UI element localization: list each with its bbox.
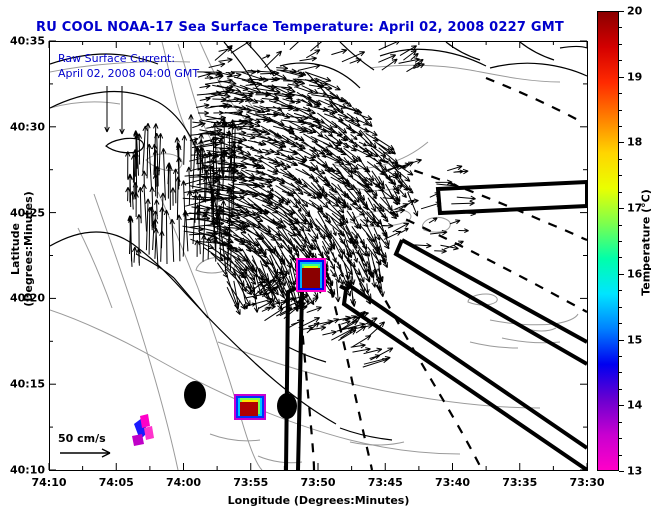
current-vector [195, 240, 200, 257]
current-vector [290, 42, 306, 50]
x-axis-title: Longitude (Degrees:Minutes) [49, 494, 588, 507]
x-tick-73-35: 73:35 [502, 476, 537, 489]
current-vector [395, 163, 413, 175]
colorbar-minor-tick [619, 44, 622, 45]
current-vector [351, 344, 366, 348]
buoy-west [184, 381, 206, 409]
current-vector [231, 42, 252, 53]
colorbar-tickmark-16 [619, 274, 624, 275]
current-vector [338, 114, 348, 118]
current-vector [120, 86, 125, 134]
scale-bar-label: 50 cm/s [58, 432, 118, 445]
scale-bar-legend: 50 cm/s [58, 432, 118, 464]
map-plot-area [49, 41, 588, 471]
dashed-boundaries [296, 78, 587, 470]
colorbar-minor-tick [619, 438, 622, 439]
current-vector [132, 247, 136, 263]
current-vector [233, 93, 247, 98]
y-tick-40-35: 40:35 [1, 35, 45, 48]
colorbar-tickmark-20 [619, 11, 624, 12]
colorbar-minor-tick [619, 307, 622, 308]
colorbar-tick-15: 15 [627, 333, 642, 346]
current-vector [262, 55, 270, 58]
current-vector [143, 126, 148, 173]
colorbar-minor-tick [619, 192, 622, 193]
current-vector [457, 196, 476, 201]
colorbar-minor-tick [619, 241, 622, 242]
current-vector [307, 307, 322, 313]
current-vector [430, 230, 447, 235]
sst-map-figure: RU COOL NOAA-17 Sea Surface Temperature:… [0, 0, 651, 518]
map-graphics [50, 42, 587, 470]
current-vector [142, 171, 147, 186]
current-vector [353, 348, 371, 353]
colorbar-minor-tick [619, 60, 622, 61]
current-vector [298, 64, 320, 70]
current-vector [265, 308, 284, 320]
current-vector [357, 156, 368, 172]
colorbar-minor-tick [619, 372, 622, 373]
y-axis-title: Latitude (Degrees:Minutes) [9, 169, 35, 329]
x-tick-73-55: 73:55 [233, 476, 268, 489]
figure-title: RU COOL NOAA-17 Sea Surface Temperature:… [0, 20, 600, 35]
current-vector [379, 42, 400, 50]
annotation-line-1: Raw Surface Current: [58, 52, 175, 65]
current-vector [405, 159, 422, 165]
colorbar-tick-19: 19 [627, 70, 642, 83]
colorbar-tickmark-19 [619, 77, 624, 78]
colorbar-title: Temperature (°C) [640, 183, 651, 303]
colorbar-tick-18: 18 [627, 136, 642, 149]
sst-patch-scalebar [132, 414, 154, 446]
current-vector [187, 190, 191, 205]
current-vector [182, 135, 187, 165]
x-tick-73-40: 73:40 [435, 476, 470, 489]
current-vector [192, 123, 205, 128]
current-vector [382, 59, 397, 70]
scale-bar-arrow-icon [58, 445, 118, 461]
current-vector [170, 219, 175, 262]
x-tick-74-10: 74:10 [31, 476, 66, 489]
y-tick-40-15: 40:15 [1, 378, 45, 391]
colorbar-tick-20: 20 [627, 5, 642, 18]
colorbar-minor-tick [619, 389, 622, 390]
current-vector [161, 148, 166, 200]
colorbar [597, 11, 619, 471]
current-vector [198, 73, 211, 78]
colorbar-minor-tick [619, 323, 622, 324]
current-vector [273, 106, 282, 110]
current-vector [356, 326, 366, 333]
current-vector [307, 322, 319, 333]
current-vector [401, 228, 408, 232]
current-vector [196, 104, 209, 108]
current-vector [322, 331, 336, 335]
current-vector [261, 177, 272, 183]
current-vector [455, 170, 463, 173]
colorbar-minor-tick [619, 257, 622, 258]
current-vector [434, 249, 446, 253]
colorbar-minor-tick [619, 422, 622, 423]
current-vector [265, 51, 282, 68]
current-vector [399, 190, 406, 198]
current-vector [365, 141, 386, 156]
current-vector [399, 58, 420, 64]
x-axis-tick-labels: 74:1074:0574:0073:5573:5073:4573:4073:35… [0, 476, 651, 492]
current-vector [350, 59, 362, 64]
colorbar-minor-tick [619, 225, 622, 226]
current-vector [347, 211, 355, 222]
y-tick-40-10: 40:10 [1, 464, 45, 477]
current-vector [363, 359, 388, 368]
colorbar-tickmark-18 [619, 142, 624, 143]
current-vector [303, 134, 317, 143]
buoy-east [277, 393, 297, 419]
surface-current-vectors [105, 42, 476, 367]
current-vector [458, 229, 468, 233]
current-vector [341, 321, 350, 325]
current-vector [365, 283, 369, 293]
current-vector [359, 142, 367, 146]
colorbar-minor-tick [619, 455, 622, 456]
current-vector [407, 63, 421, 71]
x-tick-73-45: 73:45 [368, 476, 403, 489]
x-tick-73-30: 73:30 [569, 476, 604, 489]
colorbar-tick-14: 14 [627, 399, 642, 412]
sst-patch-north [296, 258, 326, 292]
colorbar-minor-tick [619, 126, 622, 127]
current-vector [371, 148, 385, 163]
colorbar-tick-13: 13 [627, 465, 642, 478]
current-vector [219, 58, 233, 63]
colorbar-tickmark-14 [619, 405, 624, 406]
colorbar-minor-tick [619, 159, 622, 160]
colorbar-minor-tick [619, 110, 622, 111]
current-vector [105, 86, 110, 132]
current-vector [164, 210, 169, 264]
x-tick-73-50: 73:50 [300, 476, 335, 489]
x-tick-74-00: 74:00 [166, 476, 201, 489]
current-vector [302, 151, 316, 158]
sst-patch-south [234, 394, 266, 420]
current-vector [336, 281, 341, 302]
colorbar-minor-tick [619, 93, 622, 94]
x-tick-74-05: 74:05 [99, 476, 134, 489]
colorbar-tickmark-15 [619, 340, 624, 341]
current-vector [171, 188, 176, 206]
current-vector [323, 319, 339, 326]
colorbar-minor-tick [619, 175, 622, 176]
annotation-line-2: April 02, 2008 04:00 GMT [58, 67, 199, 80]
colorbar-minor-tick [619, 290, 622, 291]
current-vector [173, 169, 178, 203]
current-vector [297, 120, 314, 127]
current-vector [331, 49, 346, 54]
colorbar-tickmark-17 [619, 208, 624, 209]
colorbar-minor-tick [619, 27, 622, 28]
current-vector [364, 348, 382, 354]
sst-patches [132, 258, 326, 446]
colorbar-tickmark-13 [619, 471, 624, 472]
y-tick-40-30: 40:30 [1, 120, 45, 133]
colorbar-minor-tick [619, 356, 622, 357]
current-vector [200, 85, 211, 89]
current-vector [354, 253, 358, 262]
current-vector [246, 146, 254, 149]
current-vector [451, 201, 474, 206]
current-vector [333, 252, 337, 262]
current-vector [450, 220, 460, 224]
current-vector [350, 199, 357, 204]
current-vector [254, 141, 262, 145]
